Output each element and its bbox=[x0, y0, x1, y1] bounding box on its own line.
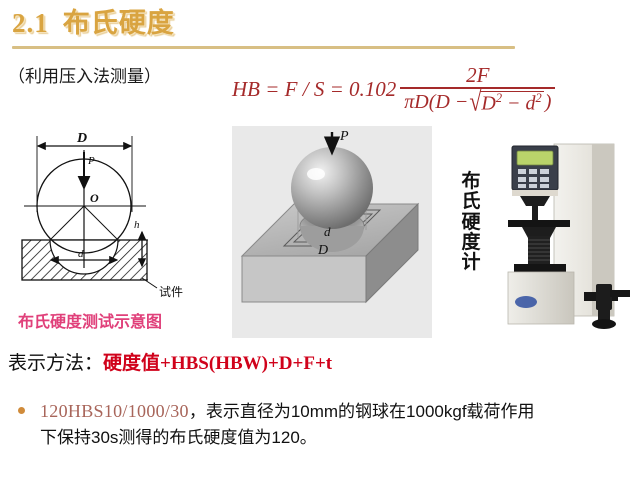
indentation-3d-illustration: P d D bbox=[232, 126, 432, 338]
vertical-label-char-2: 硬 bbox=[458, 213, 484, 233]
indenter-ball-3d bbox=[291, 147, 373, 229]
brinell-tester-photo bbox=[492, 130, 638, 338]
title-label: 布氏硬度 bbox=[63, 8, 175, 38]
example-line-1: 120HBS10/1000/30，表示直径为10mm的钢球在1000kgf载荷作… bbox=[40, 398, 634, 425]
illustration-svg: P d D bbox=[232, 126, 432, 338]
notation-label: 表示方法： bbox=[8, 353, 103, 374]
tester-anvil-table bbox=[508, 220, 570, 227]
tester-keypad[interactable] bbox=[518, 169, 549, 188]
radicand-base-1: D bbox=[481, 92, 495, 114]
title-underline-rule bbox=[12, 46, 515, 49]
formula-numerator: 2F bbox=[456, 64, 499, 87]
radicand: D2 − d2 bbox=[480, 91, 543, 115]
label-d-3d: d bbox=[324, 224, 331, 239]
label-d: d bbox=[78, 248, 84, 260]
slide-root: 2.1布氏硬度 （利用压入法测量） HB = F / S = 0.102 2F … bbox=[0, 0, 640, 480]
label-O: O bbox=[90, 191, 99, 205]
example-line-2: 下保持30s测得的布氏硬度值为120。 bbox=[40, 425, 634, 451]
sqrt-group: √ D2 − d2 bbox=[469, 91, 543, 115]
tester-microscope-foot bbox=[592, 319, 616, 329]
tester-indenter-shaft bbox=[532, 206, 538, 220]
label-D-3d: D bbox=[317, 243, 328, 258]
tester-head-base bbox=[512, 190, 558, 196]
radical-icon: √ bbox=[469, 88, 481, 118]
example-bullet-block: 120HBS10/1000/30，表示直径为10mm的钢球在1000kgf载荷作… bbox=[14, 398, 634, 451]
title-text-wrap: 2.1布氏硬度 bbox=[12, 4, 532, 42]
radicand-sup-2: 2 bbox=[536, 91, 542, 105]
schematic-caption: 布氏硬度测试示意图 bbox=[18, 308, 218, 332]
bullet-dot-icon bbox=[18, 407, 25, 414]
tester-vertical-label: 布 氏 硬 度 计 bbox=[458, 172, 484, 274]
title-number: 2.1 bbox=[12, 8, 49, 38]
example-code: 120HBS10/1000/30 bbox=[40, 401, 189, 421]
radius-line-left bbox=[50, 206, 84, 240]
tester-brand-logo bbox=[515, 296, 537, 308]
denominator-prefix: πD(D − bbox=[404, 92, 468, 113]
tester-svg bbox=[492, 130, 638, 338]
label-specimen: 试件 bbox=[159, 284, 183, 299]
notation-method-row: 表示方法：硬度值+HBS(HBW)+D+F+t bbox=[8, 348, 632, 376]
label-h: h bbox=[134, 219, 140, 231]
page-title: 2.1布氏硬度 bbox=[12, 4, 532, 48]
denominator-suffix: ) bbox=[545, 92, 552, 113]
vertical-label-char-3: 度 bbox=[458, 233, 484, 253]
subtitle-text: （利用压入法测量） bbox=[8, 62, 223, 87]
radius-line-right bbox=[84, 206, 118, 240]
example-text-1: ，表示直径为10mm的钢球在1000kgf载荷作用 bbox=[189, 402, 535, 421]
tester-lcd-display bbox=[517, 151, 553, 165]
vertical-label-char-4: 计 bbox=[458, 253, 484, 273]
schematic-svg: D P O h d 试件 bbox=[14, 128, 220, 308]
brinell-formula: HB = F / S = 0.102 2F πD(D − √ D2 − d2 ) bbox=[232, 58, 636, 120]
vertical-label-char-1: 氏 bbox=[458, 192, 484, 212]
formula-fraction: 2F πD(D − √ D2 − d2 ) bbox=[400, 64, 555, 115]
radicand-sup-1: 2 bbox=[496, 91, 502, 105]
ball-highlight bbox=[307, 168, 325, 180]
label-D: D bbox=[76, 131, 87, 146]
formula-denominator: πD(D − √ D2 − d2 ) bbox=[400, 89, 555, 115]
radicand-base-2: d bbox=[526, 92, 536, 114]
notation-value: 硬度值+HBS(HBW)+D+F+t bbox=[103, 353, 332, 374]
brinell-schematic-diagram: D P O h d 试件 bbox=[14, 128, 220, 308]
tester-eyepiece bbox=[610, 290, 630, 297]
label-P: P bbox=[87, 155, 95, 167]
vertical-label-char-0: 布 bbox=[458, 172, 484, 192]
tester-indenter-cone bbox=[520, 196, 550, 206]
label-P-3d: P bbox=[339, 129, 349, 144]
formula-lead: HB = F / S = 0.102 bbox=[232, 77, 396, 102]
block-front-face bbox=[242, 256, 366, 302]
specimen-leader-line bbox=[142, 278, 157, 288]
radicand-minus: − bbox=[507, 92, 521, 114]
tester-microscope-body bbox=[596, 284, 612, 310]
tester-screw-collar bbox=[514, 264, 566, 272]
